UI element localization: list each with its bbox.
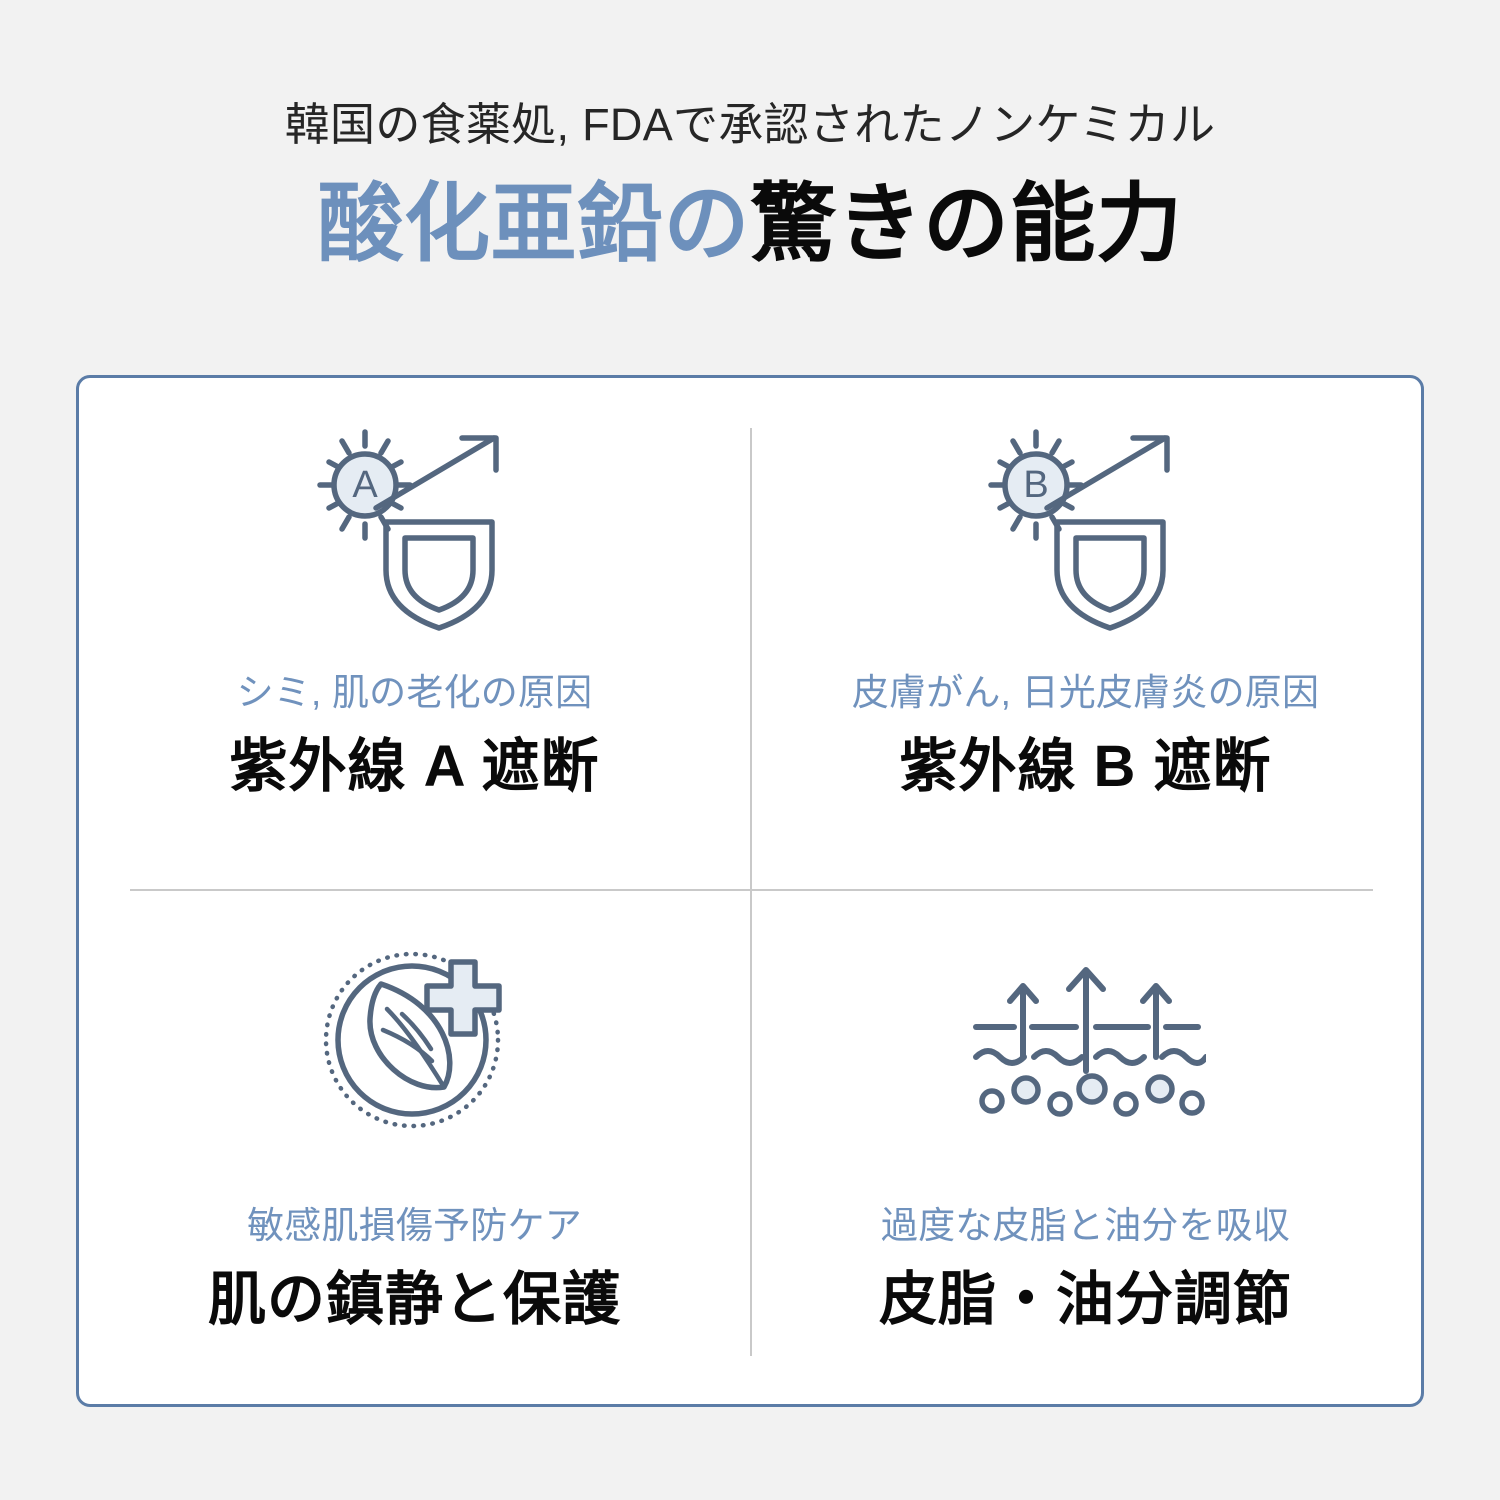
feature-title: 皮脂・油分調節 [879,1265,1292,1335]
sebum-absorb-icon [966,943,1206,1133]
feature-caption: 過度な皮脂と油分を吸収 [881,1203,1290,1249]
infographic-page: 韓国の食薬処, FDAで承認されたノンケミカル 酸化亜鉛の驚きの能力 [0,0,1500,1500]
leaf-plus-icon [320,943,510,1133]
feature-caption: シミ, 肌の老化の原因 [237,670,593,716]
uv-b-badge-letter: B [1023,464,1048,506]
feature-caption: 皮膚がん, 日光皮膚炎の原因 [852,670,1319,716]
feature-cell-uv-b: B 皮膚がん, 日光皮膚炎の原因 紫外線 B 遮断 [750,378,1421,891]
feature-card: A シミ, 肌の老化の原因 紫外線 A 遮断 [76,375,1424,1407]
uv-b-shield-icon: B [981,422,1191,632]
page-title-dark-part: 驚きの能力 [750,176,1183,272]
feature-title: 紫外線 A 遮断 [230,732,600,802]
feature-cell-sebum: 過度な皮脂と油分を吸収 皮脂・油分調節 [750,891,1421,1404]
feature-grid: A シミ, 肌の老化の原因 紫外線 A 遮断 [79,378,1421,1404]
feature-title: 肌の鎮静と保護 [208,1265,621,1335]
eyebrow-text: 韓国の食薬処, FDAで承認されたノンケミカル [0,98,1500,151]
header: 韓国の食薬処, FDAで承認されたノンケミカル 酸化亜鉛の驚きの能力 [0,0,1500,272]
feature-caption: 敏感肌損傷予防ケア [247,1203,582,1249]
uv-a-badge-letter: A [352,464,378,506]
page-title-blue-part: 酸化亜鉛の [318,176,751,272]
page-title: 酸化亜鉛の驚きの能力 [0,177,1500,272]
feature-cell-uv-a: A シミ, 肌の老化の原因 紫外線 A 遮断 [79,378,750,891]
feature-cell-soothing: 敏感肌損傷予防ケア 肌の鎮静と保護 [79,891,750,1404]
feature-title: 紫外線 B 遮断 [899,732,1271,802]
uv-a-shield-icon: A [310,422,520,632]
